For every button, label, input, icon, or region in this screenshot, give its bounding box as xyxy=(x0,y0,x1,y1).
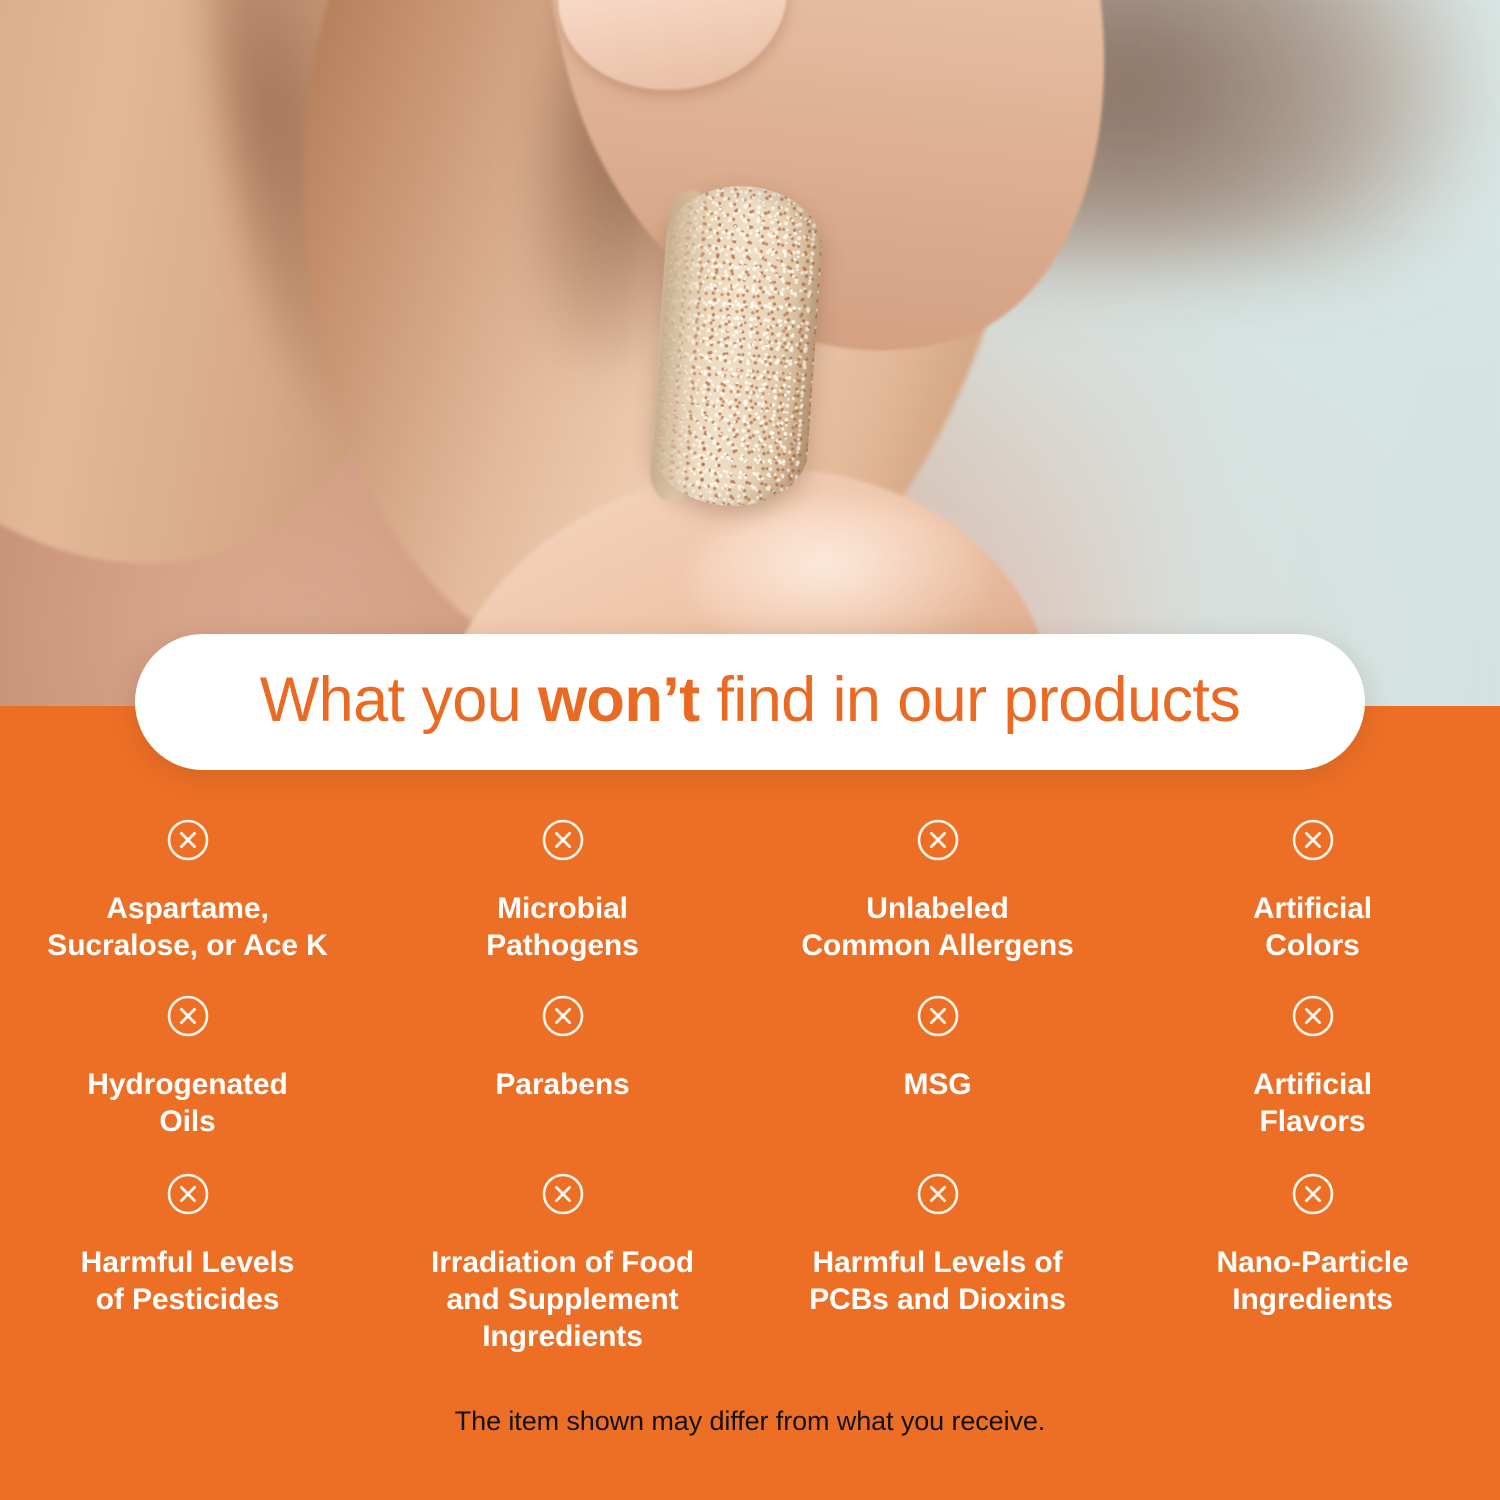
x-circle-icon xyxy=(541,818,585,862)
exclusion-label: Unlabeled Common Allergens xyxy=(801,891,1073,965)
exclusion-item-artificial-flavors: Artificial Flavors xyxy=(1125,994,1500,1172)
exclusion-label: Aspartame, Sucralose, or Ace K xyxy=(47,891,327,965)
exclusion-item-nano-particle: Nano-Particle Ingredients xyxy=(1125,1172,1500,1362)
exclusion-label: Irradiation of Food and Supplement Ingre… xyxy=(431,1245,694,1356)
exclusion-item-parabens: Parabens xyxy=(375,994,750,1172)
exclusion-label: Parabens xyxy=(495,1067,629,1104)
exclusion-label: Artificial Colors xyxy=(1253,891,1372,965)
exclusion-label-line: Ingredients xyxy=(431,1319,694,1356)
exclusion-label-line: Artificial xyxy=(1253,1067,1372,1104)
exclusion-label: Artificial Flavors xyxy=(1253,1067,1372,1141)
exclusion-label-line: Unlabeled xyxy=(801,891,1073,928)
exclusion-label: Harmful Levels of PCBs and Dioxins xyxy=(809,1245,1066,1319)
exclusion-label-line: Ingredients xyxy=(1216,1282,1408,1319)
exclusion-label: MSG xyxy=(903,1067,971,1104)
exclusion-item-unlabeled-allergens: Unlabeled Common Allergens xyxy=(750,818,1125,994)
product-benefits-poster: What you won’t find in our products Aspa… xyxy=(0,0,1500,1500)
exclusion-label-line: Sucralose, or Ace K xyxy=(47,928,327,965)
x-circle-icon xyxy=(541,1172,585,1216)
exclusion-item-pesticides: Harmful Levels of Pesticides xyxy=(0,1172,375,1362)
exclusion-label-line: Artificial xyxy=(1253,891,1372,928)
exclusion-label-line: Nano-Particle xyxy=(1216,1245,1408,1282)
exclusion-item-hydrogenated-oils: Hydrogenated Oils xyxy=(0,994,375,1172)
exclusion-label: Nano-Particle Ingredients xyxy=(1216,1245,1408,1319)
exclusion-label-line: Parabens xyxy=(495,1067,629,1104)
page-title-part-2: find in our products xyxy=(699,665,1240,735)
exclusion-label-line: Colors xyxy=(1253,928,1372,965)
exclusion-label-line: MSG xyxy=(903,1067,971,1104)
page-title-emphasis: won’t xyxy=(538,665,699,735)
exclusion-label-line: and Supplement xyxy=(431,1282,694,1319)
exclusion-label: Hydrogenated Oils xyxy=(87,1067,288,1141)
exclusion-item-artificial-colors: Artificial Colors xyxy=(1125,818,1500,994)
exclusions-grid: Aspartame, Sucralose, or Ace K Microbial… xyxy=(0,818,1500,1362)
page-title: What you won’t find in our products xyxy=(260,669,1240,736)
disclaimer-text: The item shown may differ from what you … xyxy=(0,1406,1500,1437)
x-circle-icon xyxy=(916,818,960,862)
x-circle-icon xyxy=(166,994,210,1038)
x-circle-icon xyxy=(166,818,210,862)
x-circle-icon xyxy=(1291,994,1335,1038)
exclusion-label-line: Oils xyxy=(87,1104,288,1141)
exclusion-label-line: of Pesticides xyxy=(81,1282,295,1319)
exclusion-item-microbial-pathogens: Microbial Pathogens xyxy=(375,818,750,994)
exclusion-label: Microbial Pathogens xyxy=(486,891,638,965)
exclusion-label-line: PCBs and Dioxins xyxy=(809,1282,1066,1319)
exclusion-label: Harmful Levels of Pesticides xyxy=(81,1245,295,1319)
exclusion-item-irradiation: Irradiation of Food and Supplement Ingre… xyxy=(375,1172,750,1362)
x-circle-icon xyxy=(916,994,960,1038)
headline-card: What you won’t find in our products xyxy=(135,634,1365,770)
x-circle-icon xyxy=(1291,1172,1335,1216)
x-circle-icon xyxy=(166,1172,210,1216)
exclusion-item-pcbs-dioxins: Harmful Levels of PCBs and Dioxins xyxy=(750,1172,1125,1362)
exclusions-panel: Aspartame, Sucralose, or Ace K Microbial… xyxy=(0,706,1500,1500)
exclusion-label-line: Harmful Levels of xyxy=(809,1245,1066,1282)
exclusion-label-line: Flavors xyxy=(1253,1104,1372,1141)
exclusion-label-line: Common Allergens xyxy=(801,928,1073,965)
x-circle-icon xyxy=(916,1172,960,1216)
page-title-part-1: What you xyxy=(260,665,538,735)
exclusion-label-line: Hydrogenated xyxy=(87,1067,288,1104)
exclusion-label-line: Microbial xyxy=(486,891,638,928)
exclusion-item-msg: MSG xyxy=(750,994,1125,1172)
exclusion-label-line: Aspartame, xyxy=(47,891,327,928)
x-circle-icon xyxy=(541,994,585,1038)
exclusion-label-line: Pathogens xyxy=(486,928,638,965)
hero-product-photo xyxy=(0,0,1500,706)
exclusion-label-line: Harmful Levels xyxy=(81,1245,295,1282)
x-circle-icon xyxy=(1291,818,1335,862)
exclusion-item-aspartame: Aspartame, Sucralose, or Ace K xyxy=(0,818,375,994)
exclusion-label-line: Irradiation of Food xyxy=(431,1245,694,1282)
